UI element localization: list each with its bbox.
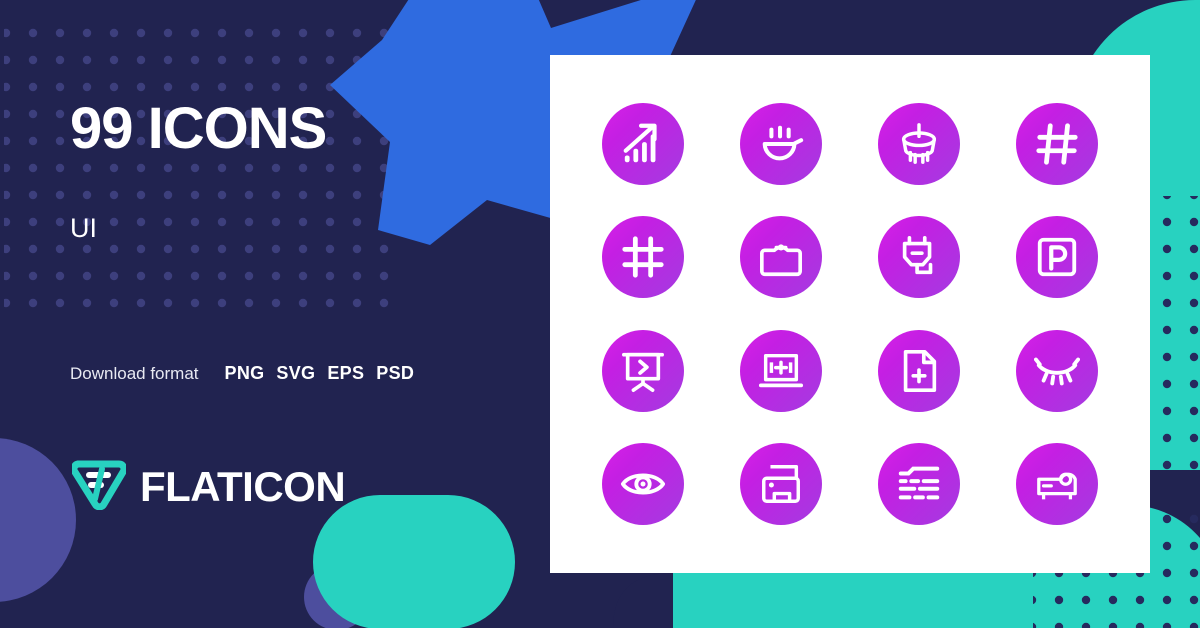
icon-cell[interactable] [712,314,850,428]
weight-scale-icon[interactable] [740,216,822,298]
download-format-row: Download format PNG SVG EPS PSD [70,363,414,384]
hashtag-icon[interactable] [1016,103,1098,185]
left-content: 99 ICONS UI Download format PNG SVG EPS … [70,0,540,628]
icon-cell[interactable] [850,428,988,542]
icon-grid-card [550,55,1150,573]
icon-cell[interactable] [712,87,850,201]
brand-name: FLATICON [140,466,345,508]
shower-head-icon[interactable] [878,103,960,185]
icon-cell[interactable] [850,314,988,428]
printer-icon[interactable] [740,443,822,525]
parking-sign-icon[interactable] [1016,216,1098,298]
icon-cell[interactable] [574,201,712,315]
add-file-icon[interactable] [878,330,960,412]
format-svg[interactable]: SVG [276,363,315,384]
format-psd[interactable]: PSD [376,363,414,384]
eye-icon[interactable] [602,443,684,525]
icon-cell[interactable] [712,201,850,315]
icon-cell[interactable] [988,428,1126,542]
icon-cell[interactable] [850,87,988,201]
page-subtitle: UI [70,215,97,242]
grid-frame-icon[interactable] [602,216,684,298]
icon-cell[interactable] [988,87,1126,201]
presentation-board-icon[interactable] [602,330,684,412]
data-lines-icon[interactable] [878,443,960,525]
laptop-medical-icon[interactable] [740,330,822,412]
icon-cell[interactable] [850,201,988,315]
icon-grid [550,55,1150,573]
download-format-label: Download format [70,364,199,384]
flaticon-logo-icon [72,458,126,515]
banner-canvas: 99 ICONS UI Download format PNG SVG EPS … [0,0,1200,628]
icon-cell[interactable] [574,87,712,201]
icon-cell[interactable] [574,428,712,542]
icon-cell[interactable] [712,428,850,542]
format-png[interactable]: PNG [225,363,265,384]
growth-chart-icon[interactable] [602,103,684,185]
brand-logo[interactable]: FLATICON [72,458,345,515]
icon-cell[interactable] [988,314,1126,428]
power-plug-icon[interactable] [878,216,960,298]
projector-icon[interactable] [1016,443,1098,525]
format-eps[interactable]: EPS [327,363,364,384]
hidden-eye-icon[interactable] [1016,330,1098,412]
download-format-list: PNG SVG EPS PSD [225,363,415,384]
icon-cell[interactable] [574,314,712,428]
icon-cell[interactable] [988,201,1126,315]
hot-pan-icon[interactable] [740,103,822,185]
page-title: 99 ICONS [70,100,326,158]
